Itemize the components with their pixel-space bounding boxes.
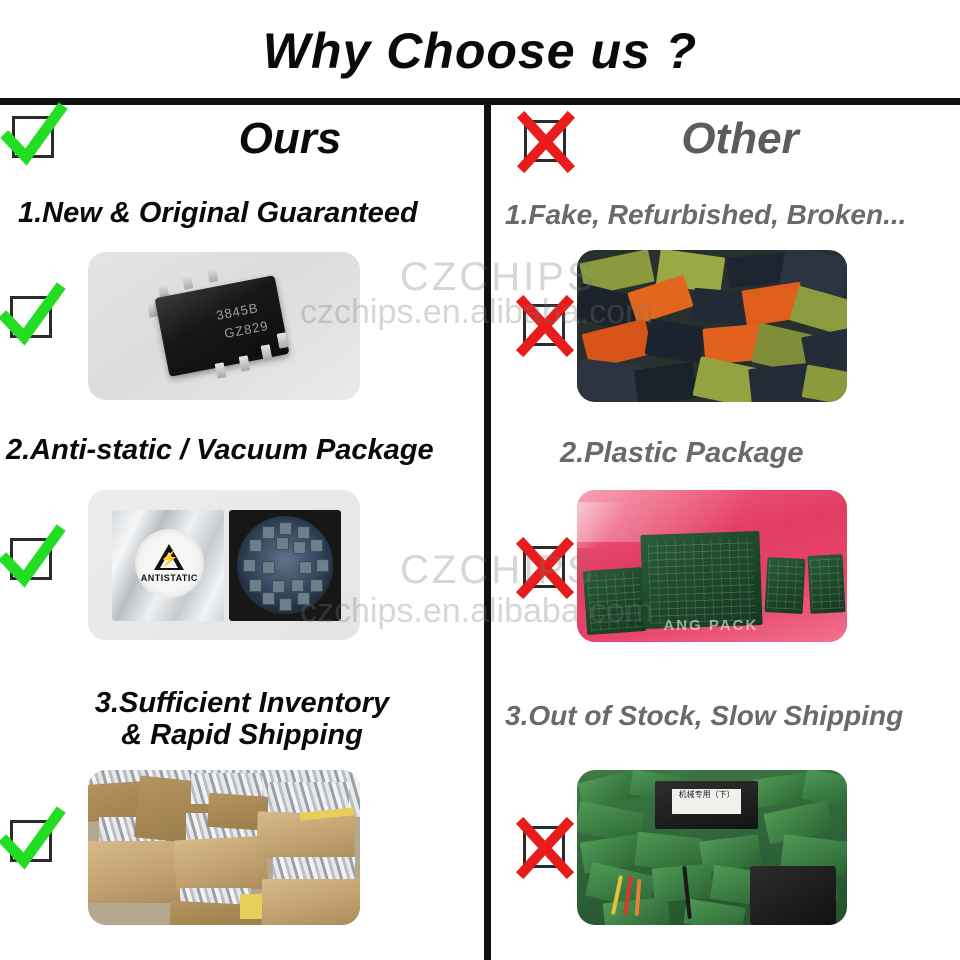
other-item-2-label: 2.Plastic Package — [560, 437, 960, 469]
ours-item-3-photo — [88, 770, 360, 925]
column-heading-ours: Ours — [130, 108, 450, 170]
check-glyph — [2, 812, 60, 870]
chip-photo: 3845B GZ829 — [88, 252, 360, 400]
ours-item-3-label: 3.Sufficient Inventory & Rapid Shipping — [42, 687, 442, 752]
ours-item-3-check-icon — [2, 812, 60, 870]
module-label: 机械专用（下） — [672, 789, 742, 814]
ours-header-check-icon — [4, 108, 62, 166]
cross-glyph — [515, 296, 573, 354]
antistatic-label: ⚡ ANTISTATIC — [135, 529, 204, 598]
brand-watermark: CZCHIPS — [400, 255, 597, 300]
page-title: Why Choose us ? — [0, 22, 960, 80]
check-glyph — [2, 530, 60, 588]
other-item-3-photo: 机械专用（下） — [577, 770, 847, 925]
ours-item-2-check-icon — [2, 530, 60, 588]
other-item-2-photo: ANG PACK — [577, 490, 847, 642]
other-item-1-cross-icon — [515, 296, 573, 354]
ours-item-1-photo: 3845B GZ829 — [88, 252, 360, 400]
antistatic-text: ANTISTATIC — [141, 573, 198, 583]
inventory-boxes-photo — [88, 770, 360, 925]
scrap-chips-photo — [577, 250, 847, 402]
cross-glyph — [515, 818, 573, 876]
plastic-package-photo: ANG PACK — [577, 490, 847, 642]
ours-item-2-label: 2.Anti-static / Vacuum Package — [6, 434, 476, 466]
header-divider — [0, 98, 960, 105]
other-item-1-label: 1.Fake, Refurbished, Broken... — [505, 199, 955, 230]
lightning-bolt-icon: ⚡ — [160, 552, 179, 567]
black-module: 机械专用（下） — [655, 781, 758, 829]
ours-item-1-check-icon — [2, 288, 60, 346]
column-divider — [484, 105, 491, 960]
comparison-infographic: Why Choose us ? Ours Other 1.New & Origi… — [0, 0, 960, 960]
ours-item-2-photo: ⚡ ANTISTATIC — [88, 490, 360, 640]
check-glyph — [2, 288, 60, 346]
column-heading-other: Other — [560, 108, 920, 170]
other-item-1-photo — [577, 250, 847, 402]
other-item-2-cross-icon — [515, 538, 573, 596]
pcb-scrap-photo: 机械专用（下） — [577, 770, 847, 925]
foil-bag: ⚡ ANTISTATIC — [112, 510, 224, 621]
tape-reel — [229, 510, 341, 621]
check-glyph — [4, 108, 62, 166]
other-item-3-label: 3.Out of Stock, Slow Shipping — [505, 700, 955, 731]
other-item-3-cross-icon — [515, 818, 573, 876]
reel-disc — [237, 516, 333, 614]
pack-watermark: ANG PACK — [663, 617, 758, 634]
antistatic-package-photo: ⚡ ANTISTATIC — [88, 490, 360, 640]
ours-item-1-label: 1.New & Original Guaranteed — [18, 197, 468, 229]
cross-glyph — [515, 538, 573, 596]
